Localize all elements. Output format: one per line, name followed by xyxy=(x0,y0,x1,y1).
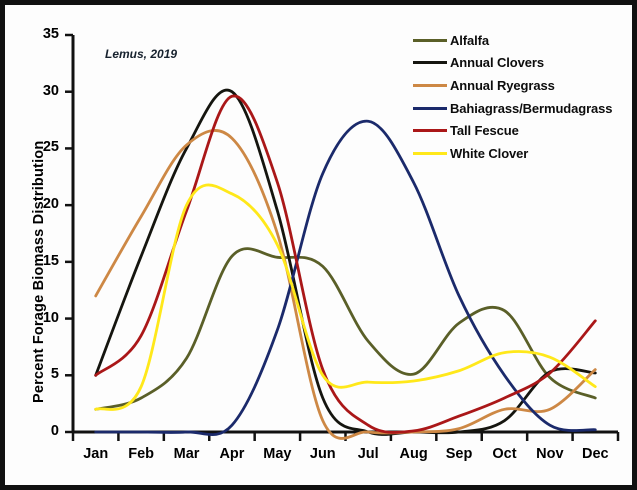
legend-color-swatch xyxy=(413,129,447,132)
series-line xyxy=(96,185,596,410)
y-tick-label: 35 xyxy=(25,26,59,42)
legend-label: White Clover xyxy=(450,146,528,161)
legend-item[interactable]: Alfalfa xyxy=(413,29,612,52)
legend-color-swatch xyxy=(413,39,447,42)
legend-item[interactable]: Annual Clovers xyxy=(413,52,612,75)
y-tick-label: 5 xyxy=(25,366,59,382)
legend-color-swatch xyxy=(413,152,447,155)
series-line xyxy=(96,249,596,410)
legend-label: Bahiagrass/Bermudagrass xyxy=(450,101,612,116)
y-tick-label: 10 xyxy=(25,310,59,326)
legend-item[interactable]: White Clover xyxy=(413,142,612,165)
legend-label: Annual Ryegrass xyxy=(450,78,555,93)
y-tick-label: 30 xyxy=(25,83,59,99)
source-annotation: Lemus, 2019 xyxy=(105,47,177,61)
legend-item[interactable]: Tall Fescue xyxy=(413,119,612,142)
y-tick-label: 25 xyxy=(25,139,59,155)
legend-label: Alfalfa xyxy=(450,33,489,48)
y-axis-label: Percent Forage Biomass Distribution xyxy=(31,141,47,403)
legend-color-swatch xyxy=(413,61,447,64)
y-tick-label: 20 xyxy=(25,196,59,212)
legend-item[interactable]: Bahiagrass/Bermudagrass xyxy=(413,97,612,120)
chart-frame: Percent Forage Biomass Distribution 0510… xyxy=(0,0,637,490)
legend-color-swatch xyxy=(413,107,447,110)
legend-label: Annual Clovers xyxy=(450,55,544,70)
y-axis-label-wrap: Percent Forage Biomass Distribution xyxy=(11,5,39,490)
chart-legend: AlfalfaAnnual CloversAnnual RyegrassBahi… xyxy=(413,29,612,165)
chart-canvas: Percent Forage Biomass Distribution 0510… xyxy=(5,5,632,485)
legend-color-swatch xyxy=(413,84,447,87)
legend-label: Tall Fescue xyxy=(450,123,519,138)
y-tick-label: 15 xyxy=(25,253,59,269)
y-tick-label: 0 xyxy=(25,423,59,439)
legend-item[interactable]: Annual Ryegrass xyxy=(413,74,612,97)
x-tick-label: Dec xyxy=(567,446,623,462)
